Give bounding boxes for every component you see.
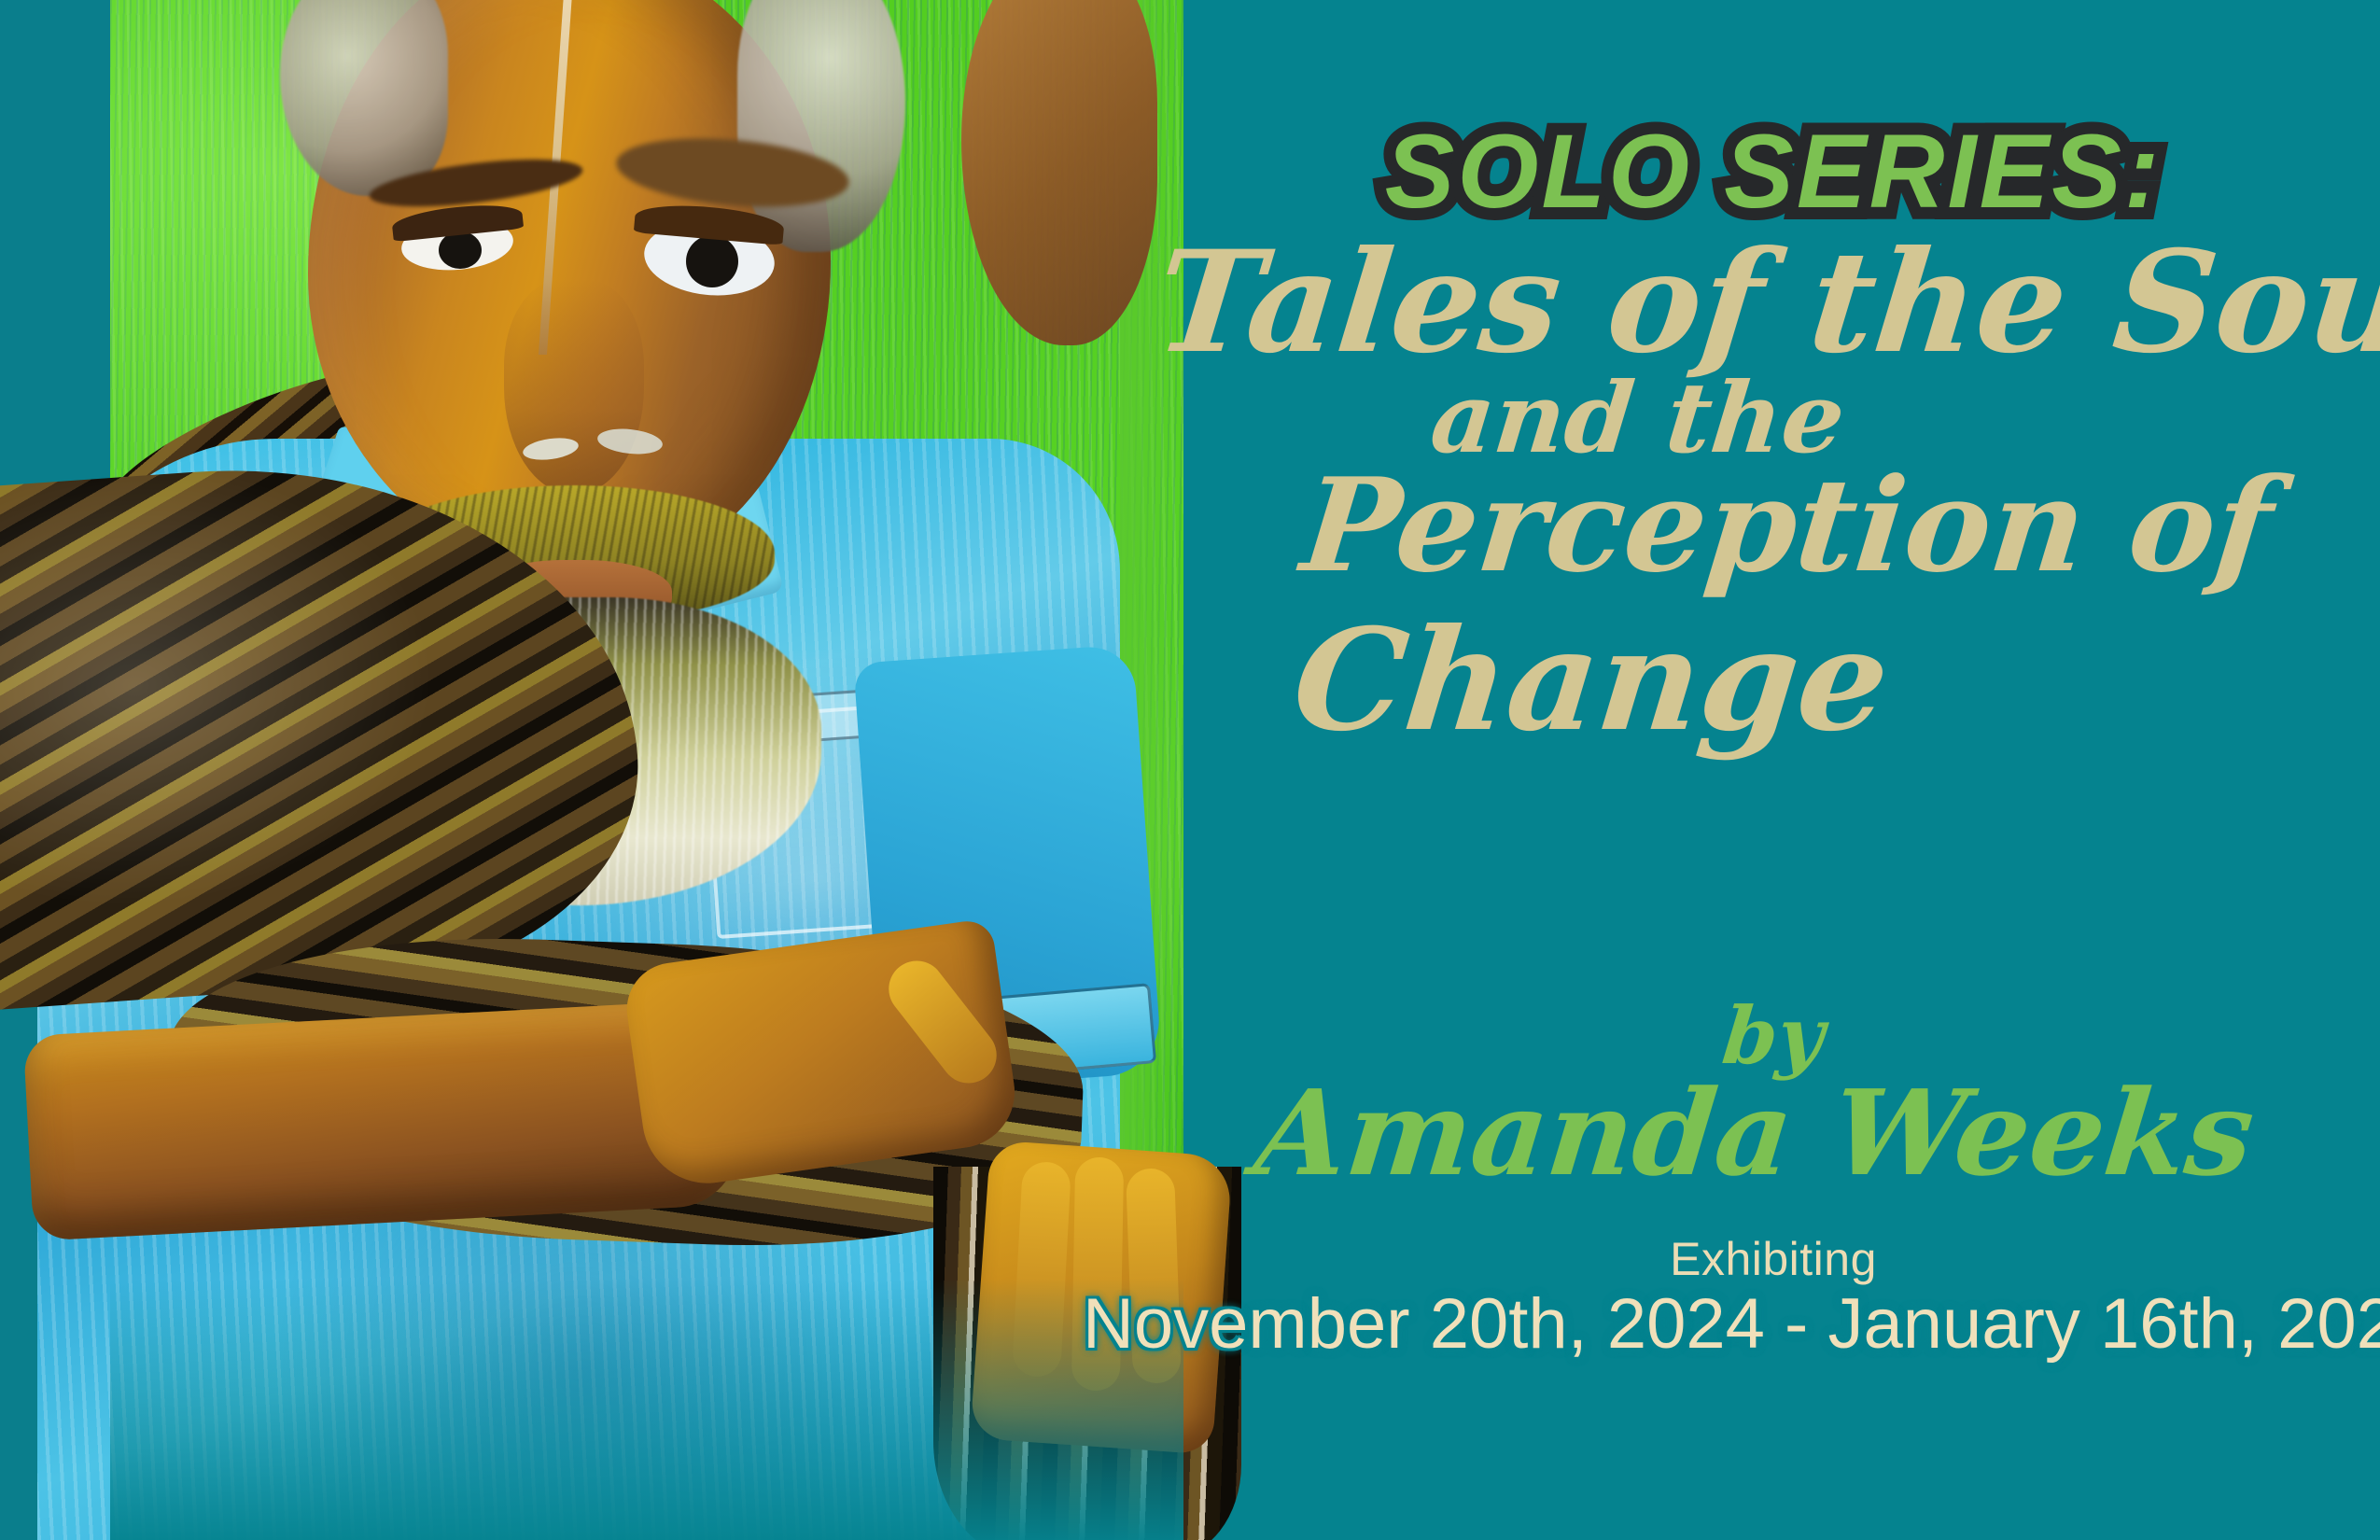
exhibiting-label: Exhibiting (1167, 1232, 2380, 1286)
poster-text-column: SOLO SERIES: Tales of the Soul and the P… (1167, 0, 2380, 1540)
nose (504, 280, 644, 495)
artist-name: Amanda Weeks (1169, 1064, 2341, 1202)
title-line-4: Change (973, 616, 2210, 745)
exhibition-poster: SOLO SERIES: Tales of the Soul and the P… (0, 0, 2380, 1540)
series-kicker: SOLO SERIES: (1251, 119, 2296, 224)
artwork-image (0, 0, 1241, 1540)
iris-left (439, 231, 482, 269)
iris-right (686, 235, 738, 287)
title-line-1: Tales of the Soul (1151, 238, 2380, 367)
exhibition-dates: November 20th, 2024 - January 16th, 2025 (1083, 1283, 2380, 1365)
artwork-bottom-fade (110, 1279, 1183, 1540)
title-line-3: Perception of (1179, 467, 2380, 585)
